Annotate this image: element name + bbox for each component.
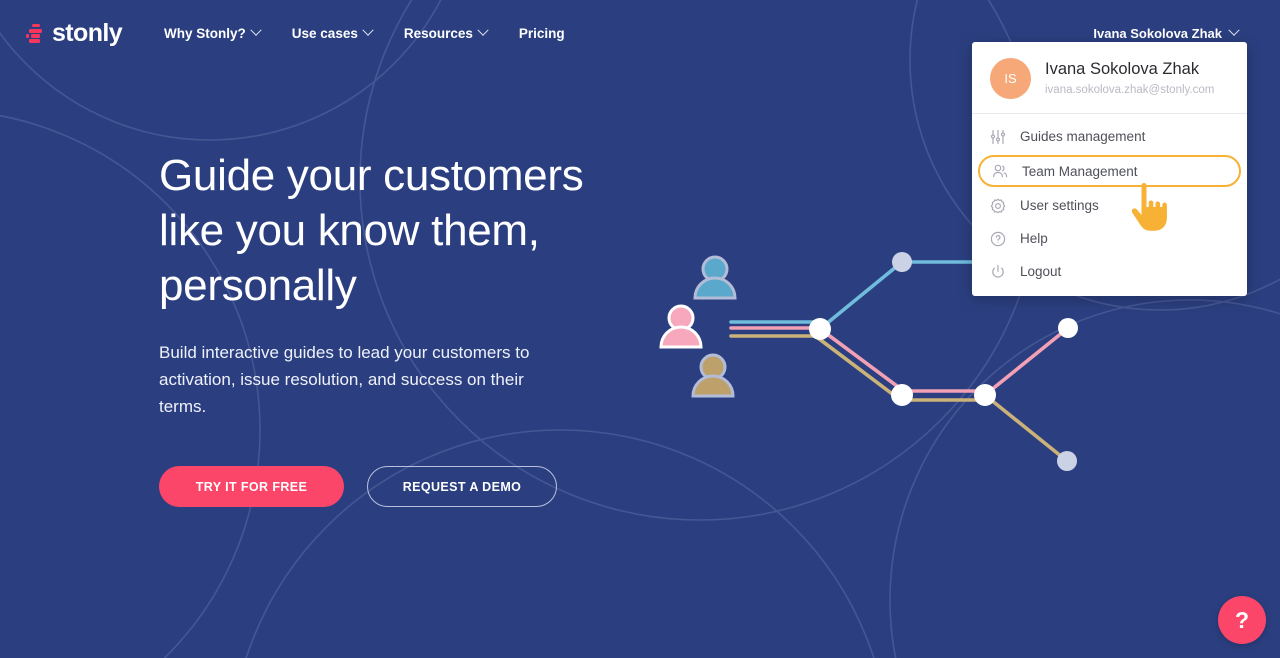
hero-title-line-1: Guide your customers bbox=[159, 151, 583, 200]
people-icon bbox=[992, 163, 1008, 179]
power-icon bbox=[990, 264, 1006, 280]
menu-item-user-settings[interactable]: User settings bbox=[972, 189, 1247, 222]
account-menu-list: Guides management Team Management User s… bbox=[972, 114, 1247, 296]
nav-item-why-stonly[interactable]: Why Stonly? bbox=[148, 18, 276, 49]
account-nav-label: Ivana Sokolova Zhak bbox=[1093, 26, 1222, 41]
menu-item-logout[interactable]: Logout bbox=[972, 255, 1247, 288]
question-circle-icon bbox=[990, 231, 1006, 247]
stonly-logo[interactable]: stonly bbox=[26, 21, 122, 46]
request-a-demo-button[interactable]: REQUEST A DEMO bbox=[367, 466, 557, 507]
chevron-down-icon bbox=[477, 25, 488, 36]
hero-section: Guide your customers like you know them,… bbox=[159, 148, 719, 507]
nav-item-label: Use cases bbox=[292, 26, 358, 41]
nav-item-use-cases[interactable]: Use cases bbox=[276, 18, 388, 49]
account-dropdown-menu: IS Ivana Sokolova Zhak ivana.sokolova.zh… bbox=[972, 42, 1247, 296]
hero-title-line-2: like you know them, bbox=[159, 206, 540, 255]
menu-item-label: Logout bbox=[1020, 264, 1061, 279]
nav-item-resources[interactable]: Resources bbox=[388, 18, 503, 49]
nav-item-label: Resources bbox=[404, 26, 473, 41]
account-email: ivana.sokolova.zhak@stonly.com bbox=[1045, 81, 1214, 99]
avatar: IS bbox=[990, 58, 1031, 99]
stonly-logo-text: stonly bbox=[52, 21, 122, 46]
hero-subtitle: Build interactive guides to lead your cu… bbox=[159, 339, 531, 420]
menu-item-label: Team Management bbox=[1022, 164, 1138, 179]
menu-item-label: Guides management bbox=[1020, 129, 1145, 144]
page-root: stonly Why Stonly? Use cases Resources P… bbox=[0, 0, 1280, 658]
chevron-down-icon bbox=[1228, 25, 1239, 36]
account-header: IS Ivana Sokolova Zhak ivana.sokolova.zh… bbox=[972, 42, 1247, 114]
hero-cta-group: TRY IT FOR FREE REQUEST A DEMO bbox=[159, 466, 719, 507]
nav-item-label: Pricing bbox=[519, 26, 565, 41]
menu-item-label: User settings bbox=[1020, 198, 1099, 213]
stonly-logo-mark bbox=[26, 23, 44, 43]
account-nav-button[interactable]: Ivana Sokolova Zhak bbox=[1093, 26, 1256, 41]
pointing-hand-cursor bbox=[1128, 183, 1172, 235]
gear-icon bbox=[990, 198, 1006, 214]
menu-item-team-management[interactable]: Team Management bbox=[978, 155, 1241, 187]
sliders-icon bbox=[990, 129, 1006, 145]
chevron-down-icon bbox=[250, 25, 261, 36]
nav-item-label: Why Stonly? bbox=[164, 26, 246, 41]
chevron-down-icon bbox=[362, 25, 373, 36]
account-name: Ivana Sokolova Zhak bbox=[1045, 59, 1214, 79]
hero-title-line-3: personally bbox=[159, 261, 357, 310]
page-title: Guide your customers like you know them,… bbox=[159, 148, 719, 313]
try-it-for-free-button[interactable]: TRY IT FOR FREE bbox=[159, 466, 344, 507]
help-widget-button[interactable]: ? bbox=[1218, 596, 1266, 644]
nav-links: Why Stonly? Use cases Resources Pricing bbox=[148, 18, 581, 49]
nav-item-pricing[interactable]: Pricing bbox=[503, 18, 581, 49]
menu-item-guides-management[interactable]: Guides management bbox=[972, 120, 1247, 153]
menu-item-label: Help bbox=[1020, 231, 1048, 246]
menu-item-help[interactable]: Help bbox=[972, 222, 1247, 255]
